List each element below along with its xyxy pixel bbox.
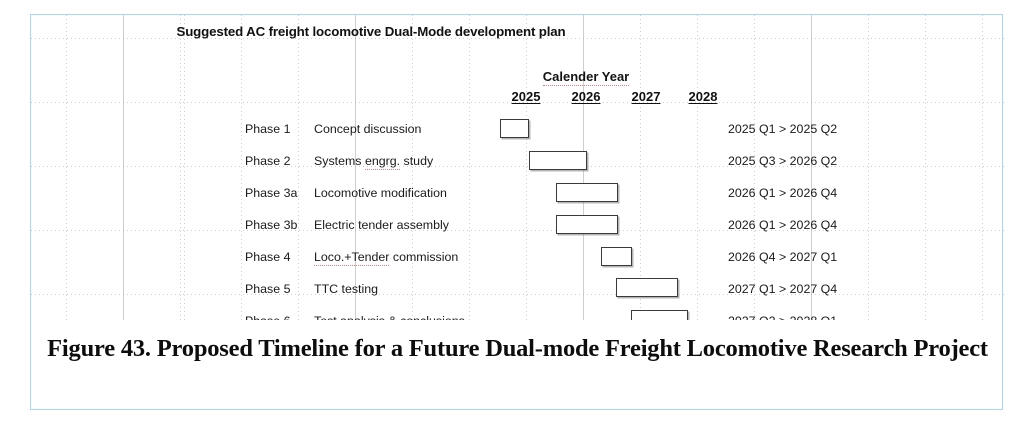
row-date-range: 2025 Q3 > 2026 Q2 — [728, 154, 898, 168]
row-task-label: Concept discussion — [314, 122, 504, 136]
gantt-bar[interactable] — [601, 247, 632, 266]
year-tick-2026: 2026 — [563, 89, 609, 104]
spellcheck-underline: engrg. — [365, 154, 400, 170]
row-phase-label: Phase 2 — [245, 154, 317, 168]
chart-title: Suggested AC freight locomotive Dual-Mod… — [31, 24, 711, 39]
row-date-range: 2026 Q1 > 2026 Q4 — [728, 218, 898, 232]
row-phase-label: Phase 1 — [245, 122, 317, 136]
spellcheck-underline: Loco.+Tender — [314, 250, 389, 266]
axis-group-label-text: Calender Year — [543, 69, 629, 86]
gantt-bar[interactable] — [556, 215, 618, 234]
row-phase-label: Phase 4 — [245, 250, 317, 264]
row-task-label: Test analysis & conclusions — [314, 314, 504, 320]
year-tick-2027: 2027 — [623, 89, 669, 104]
gantt-bar[interactable] — [631, 310, 688, 320]
row-phase-label: Phase 5 — [245, 282, 317, 296]
gantt-bar[interactable] — [616, 278, 678, 297]
row-phase-label: Phase 3a — [245, 186, 317, 200]
row-task-label: Electric tender assembly — [314, 218, 504, 232]
gantt-bar[interactable] — [500, 119, 529, 138]
year-tick-2028: 2028 — [680, 89, 726, 104]
row-date-range: 2026 Q1 > 2026 Q4 — [728, 186, 898, 200]
row-task-label: Systems engrg. study — [314, 154, 504, 168]
row-phase-label: Phase 6 — [245, 314, 317, 320]
row-date-range: 2027 Q1 > 2027 Q4 — [728, 282, 898, 296]
row-task-label: Locomotive modification — [314, 186, 504, 200]
axis-group-label: Calender Year — [528, 69, 644, 84]
figure-caption: Figure 43. Proposed Timeline for a Futur… — [43, 333, 992, 365]
row-date-range: 2025 Q1 > 2025 Q2 — [728, 122, 898, 136]
row-task-label: TTC testing — [314, 282, 504, 296]
row-task-label: Loco.+Tender commission — [314, 250, 504, 264]
row-date-range: 2026 Q4 > 2027 Q1 — [728, 250, 898, 264]
gantt-bar[interactable] — [529, 151, 587, 170]
row-date-range: 2027 Q2 > 2028 Q1 — [728, 314, 898, 320]
gantt-bar[interactable] — [556, 183, 618, 202]
row-phase-label: Phase 3b — [245, 218, 317, 232]
gantt-chart: Suggested AC freight locomotive Dual-Mod… — [31, 15, 1004, 320]
year-tick-2025: 2025 — [503, 89, 549, 104]
figure-frame: Suggested AC freight locomotive Dual-Mod… — [30, 14, 1003, 410]
